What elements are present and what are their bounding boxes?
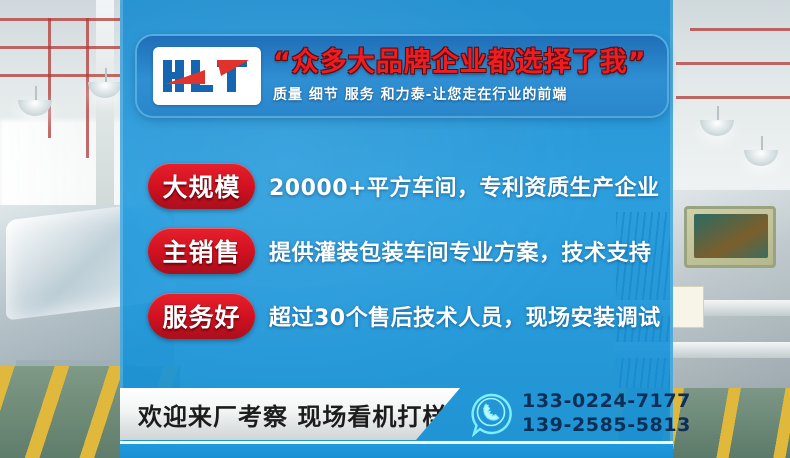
welcome-text: 欢迎来厂考察 现场看机打样 (120, 397, 447, 432)
ceiling-pipe (676, 96, 790, 99)
promo-banner: “众多大品牌企业都选择了我” 质量 细节 服务 和力泰-让您走在行业的前端 大规… (0, 0, 790, 458)
feature-text: 提供灌装包装车间专业方案，技术支持 (255, 235, 652, 267)
ceiling-pipe (676, 62, 790, 65)
feature-badge-sales: 主销售 (148, 228, 255, 274)
machine-screen (694, 214, 768, 258)
feature-badge-service: 服务好 (148, 293, 255, 339)
feature-text: 超过30个售后技术人员，现场安装调试 (255, 300, 661, 332)
feature-list: 大规模 20000+平方车间，专利资质生产企业 主销售 提供灌装包装车间专业方案… (148, 160, 668, 355)
feature-row: 服务好 超过30个售后技术人员，现场安装调试 (148, 290, 668, 342)
ceiling-pipe (0, 74, 120, 77)
feature-badge-label: 大规模 (162, 168, 240, 204)
header-text-block: “众多大品牌企业都选择了我” 质量 细节 服务 和力泰-让您走在行业的前端 (261, 48, 657, 103)
subheadline: 质量 细节 服务 和力泰-让您走在行业的前端 (273, 84, 657, 104)
ceiling-duct (96, 0, 114, 230)
ceiling-lamp (88, 82, 122, 98)
phone-bubble-icon (468, 391, 514, 437)
hlt-logo-icon (159, 54, 255, 98)
ceiling-pipe (0, 46, 120, 49)
footer-cyan-strip (120, 444, 673, 458)
ceiling-pipe (690, 28, 790, 31)
ceiling-pipe (48, 18, 51, 138)
ceiling-pipe (0, 18, 120, 21)
feature-text: 20000+平方车间，专利资质生产企业 (255, 170, 659, 202)
phone-number-primary[interactable]: 133-0224-7177 (522, 390, 691, 414)
feature-badge-scale: 大规模 (148, 163, 255, 209)
footer-bar: 欢迎来厂考察 现场看机打样 133-0224-7177 139-2585-581… (120, 388, 673, 440)
ceiling-lamp (18, 100, 52, 116)
feature-row: 主销售 提供灌装包装车间专业方案，技术支持 (148, 225, 668, 277)
feature-badge-label: 主销售 (162, 233, 240, 269)
feature-badge-label: 服务好 (162, 298, 240, 334)
phone-number-list: 133-0224-7177 139-2585-5813 (522, 390, 691, 438)
welcome-plate: 欢迎来厂考察 现场看机打样 (120, 388, 460, 440)
header-banner: “众多大品牌企业都选择了我” 质量 细节 服务 和力泰-让您走在行业的前端 (137, 36, 667, 116)
logo-plate (153, 47, 261, 105)
ceiling-lamp (744, 150, 778, 166)
ceiling-lamp (700, 120, 734, 136)
contact-group: 133-0224-7177 139-2585-5813 (468, 388, 691, 440)
headline: “众多大品牌企业都选择了我” (273, 48, 657, 78)
feature-row: 大规模 20000+平方车间，专利资质生产企业 (148, 160, 668, 212)
machine-label-tag (672, 286, 704, 328)
phone-number-secondary[interactable]: 139-2585-5813 (522, 414, 691, 438)
